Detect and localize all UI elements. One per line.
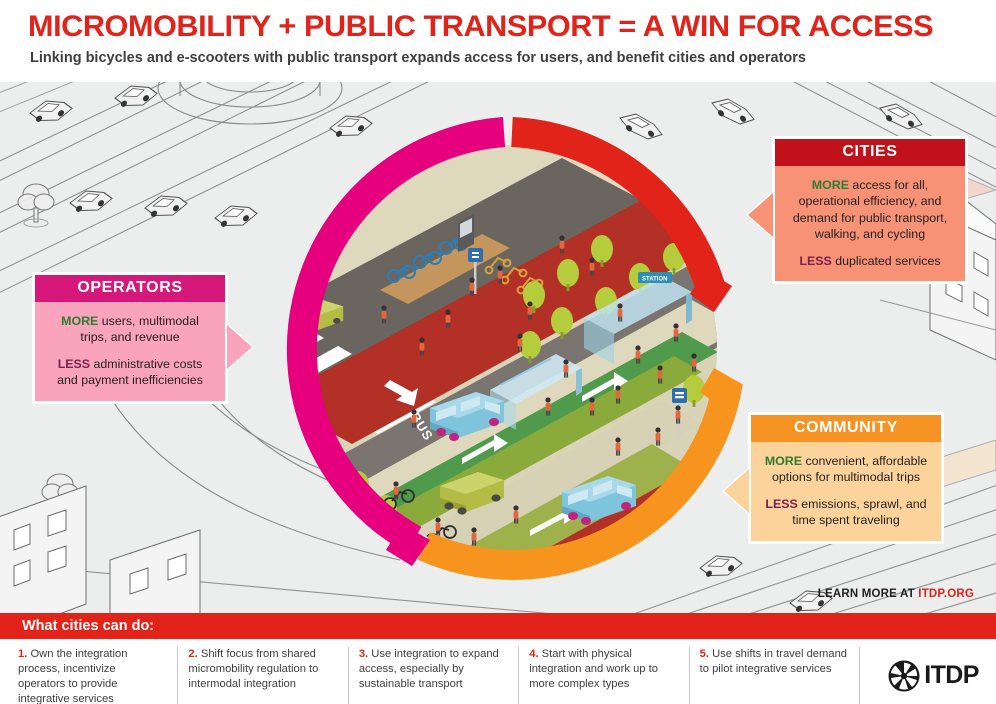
action-item-5: 5. Use shifts in travel demand to pilot … — [700, 647, 860, 704]
action-4-number: 4. — [529, 648, 538, 660]
operators-less-label: LESS — [58, 357, 90, 371]
cities-less-text: duplicated services — [832, 254, 941, 268]
header-banner: MICROMOBILITY + PUBLIC TRANSPORT = A WIN… — [0, 0, 996, 82]
action-item-2: 2. Shift focus from shared micromobility… — [188, 647, 348, 704]
operators-heading: OPERATORS — [35, 275, 225, 302]
community-heading: COMMUNITY — [751, 415, 941, 442]
cities-pointer-icon — [748, 193, 773, 237]
learn-more-prefix: LEARN MORE AT — [818, 588, 919, 600]
itdp-pinwheel-icon — [887, 659, 921, 693]
street-scene-illustration: BUS BUS — [262, 100, 762, 600]
cities-more-label: MORE — [812, 178, 849, 192]
action-item-3: 3. Use integration to expand access, esp… — [359, 647, 519, 704]
learn-more-text[interactable]: LEARN MORE AT ITDP.ORG — [818, 588, 974, 600]
itdp-logo[interactable]: ITDP — [870, 647, 988, 704]
bottom-heading: What cities can do: — [0, 613, 996, 639]
operators-more-line: MORE users, multimodal trips, and revenu… — [48, 313, 212, 346]
community-more-line: MORE convenient, affordable options for … — [764, 453, 928, 486]
action-4-text: Start with physical integration and work… — [529, 648, 658, 690]
action-3-text: Use integration to expand access, especi… — [359, 648, 499, 690]
itdp-logo-text: ITDP — [924, 661, 979, 690]
community-less-text: emissions, sprawl, and time spent travel… — [792, 497, 926, 527]
actions-row: 1. Own the integration process, incentiv… — [0, 639, 996, 704]
station-sign-label: STATION — [642, 277, 667, 283]
action-item-4: 4. Start with physical integration and w… — [529, 647, 689, 704]
community-less-line: LESS emissions, sprawl, and time spent t… — [764, 496, 928, 529]
cities-more-line: MORE access for all, operational efficie… — [788, 177, 952, 243]
community-pointer-icon — [724, 469, 749, 513]
cities-less-line: LESS duplicated services — [788, 253, 952, 269]
operators-pointer-icon — [227, 325, 252, 369]
operators-less-line: LESS administrative costs and payment in… — [48, 356, 212, 389]
operators-more-text: users, multimodal trips, and revenue — [80, 314, 198, 344]
callout-operators: OPERATORS MORE users, multimodal trips, … — [32, 272, 228, 404]
action-1-number: 1. — [18, 648, 27, 660]
cities-body: MORE access for all, operational efficie… — [775, 166, 965, 281]
learn-more-domain[interactable]: ITDP.ORG — [918, 588, 974, 600]
community-less-label: LESS — [765, 497, 797, 511]
infographic-canvas: BUS BUS — [0, 0, 996, 704]
operators-more-label: MORE — [61, 314, 98, 328]
community-more-label: MORE — [765, 454, 802, 468]
action-3-number: 3. — [359, 648, 368, 660]
action-item-1: 1. Own the integration process, incentiv… — [18, 647, 178, 704]
action-5-number: 5. — [700, 648, 709, 660]
callout-cities: CITIES MORE access for all, operational … — [772, 136, 968, 284]
action-2-text: Shift focus from shared micromobility re… — [188, 648, 318, 690]
cities-heading: CITIES — [775, 139, 965, 166]
cities-less-label: LESS — [799, 254, 831, 268]
bottom-panel: What cities can do: 1. Own the integrati… — [0, 613, 996, 704]
action-2-number: 2. — [188, 648, 197, 660]
callout-community: COMMUNITY MORE convenient, affordable op… — [748, 412, 944, 544]
community-body: MORE convenient, affordable options for … — [751, 442, 941, 541]
page-title: MICROMOBILITY + PUBLIC TRANSPORT = A WIN… — [28, 12, 996, 42]
bus-lane-label-2: BUS — [687, 560, 716, 594]
page-subtitle: Linking bicycles and e-scooters with pub… — [30, 51, 980, 67]
action-1-text: Own the integration process, incentivize… — [18, 648, 127, 704]
operators-body: MORE users, multimodal trips, and revenu… — [35, 302, 225, 401]
action-5-text: Use shifts in travel demand to pilot int… — [700, 648, 847, 675]
